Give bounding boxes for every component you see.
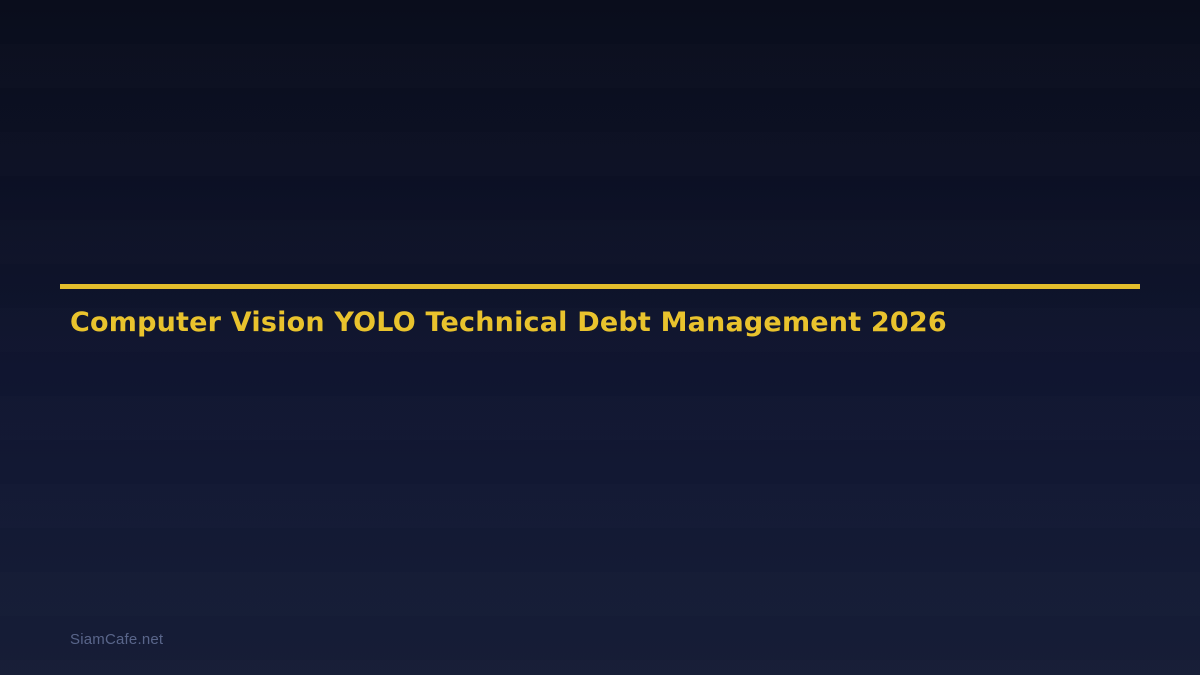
- title-slide: Computer Vision YOLO Technical Debt Mana…: [0, 0, 1200, 675]
- title-block: Computer Vision YOLO Technical Debt Mana…: [60, 284, 1140, 289]
- accent-bar: [60, 284, 1140, 289]
- page-title: Computer Vision YOLO Technical Debt Mana…: [70, 306, 947, 340]
- watermark-label: SiamCafe.net: [70, 630, 163, 650]
